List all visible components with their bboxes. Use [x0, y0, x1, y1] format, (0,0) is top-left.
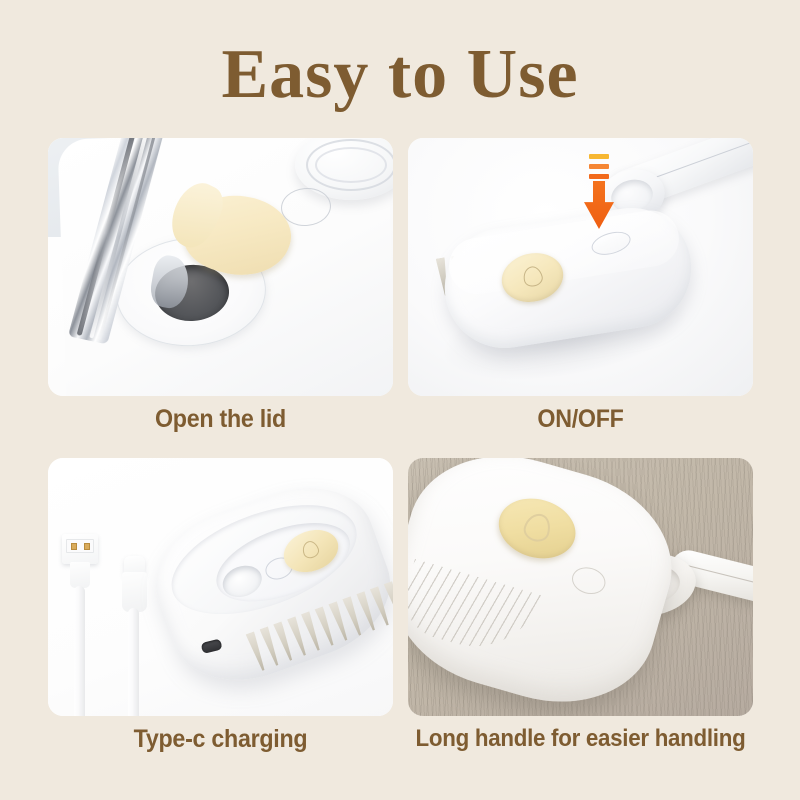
usb-pin	[71, 543, 77, 550]
usb-pin	[84, 543, 90, 550]
page-title: Easy to Use	[0, 40, 800, 110]
arrow-bar	[589, 164, 609, 169]
usb-a-connector-icon	[62, 534, 98, 564]
orange-down-arrow-icon	[584, 154, 614, 230]
cap-ring-inner	[315, 147, 387, 183]
water-drop-icon	[521, 510, 554, 544]
caption-type-c-charging: Type-c charging	[41, 724, 399, 754]
fill-opening	[218, 560, 266, 602]
arrow-head	[584, 181, 614, 229]
water-drop-icon	[521, 264, 545, 288]
panel-long-handle[interactable]: Long handle for easier handling	[408, 458, 753, 716]
usb-a-mouth	[66, 539, 94, 553]
usb-c-cord	[128, 608, 139, 716]
arrow-bar	[589, 174, 609, 179]
panel-type-c-charging[interactable]: Type-c charging	[48, 458, 393, 716]
panel-grid: Open the lid	[48, 138, 752, 748]
usb-a-neck	[70, 562, 90, 588]
panel-open-the-lid[interactable]: Open the lid	[48, 138, 393, 396]
usb-c-neck	[122, 572, 147, 612]
arrow-bar	[589, 154, 609, 159]
photo-on-off	[408, 138, 753, 396]
photo-open-the-lid	[48, 138, 393, 396]
usb-a-cord	[74, 586, 85, 716]
panel-on-off[interactable]: ON/OFF	[408, 138, 753, 396]
photo-long-handle	[408, 458, 753, 716]
caption-long-handle: Long handle for easier handling	[401, 724, 759, 754]
photo-type-c-charging	[48, 458, 393, 716]
caption-open-the-lid: Open the lid	[41, 404, 399, 434]
caption-on-off: ON/OFF	[401, 404, 759, 434]
water-drop-icon	[300, 539, 321, 560]
